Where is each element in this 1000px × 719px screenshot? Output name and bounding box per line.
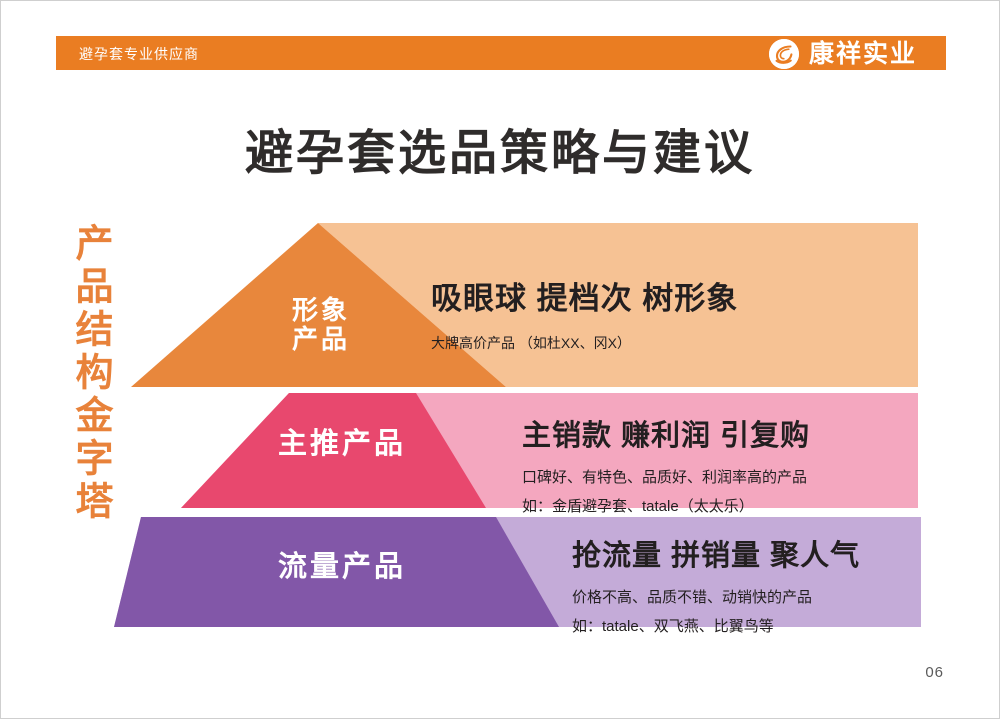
tier-2-example-line: 如：金盾避孕套、tatale（太太乐） [522,495,810,516]
tier-1-label: 形象 产品 [269,296,373,354]
tier-2-headline: 主销款 赚利润 引复购 [522,412,810,454]
slide-canvas: 避孕套专业供应商 康祥实业 避孕套选品策略与建议 产品结构金字塔 [0,0,1000,719]
tier-3-headline: 抢流量 拼销量 聚人气 [572,532,860,574]
tier-3-detail-line: 价格不高、品质不错、动销快的产品 [572,586,860,607]
page-number: 06 [925,664,944,681]
tier-3-copy: 抢流量 拼销量 聚人气 价格不高、品质不错、动销快的产品 如：tatale、双飞… [572,532,860,636]
tier-3-label: 流量产品 [237,551,447,583]
tier-1-copy: 吸眼球 提档次 树形象 大牌高价产品 （如杜XX、冈X） [431,273,738,353]
tier-2-label: 主推产品 [237,428,447,460]
tier-2-detail-line: 口碑好、有特色、品质好、利润率高的产品 [522,466,810,487]
tier-2-copy: 主销款 赚利润 引复购 口碑好、有特色、品质好、利润率高的产品 如：金盾避孕套、… [522,412,810,516]
tier-1-detail-line: 大牌高价产品 （如杜XX、冈X） [431,333,738,353]
tier-3-example-line: 如：tatale、双飞燕、比翼鸟等 [572,615,860,636]
tier-1-headline: 吸眼球 提档次 树形象 [431,273,738,318]
